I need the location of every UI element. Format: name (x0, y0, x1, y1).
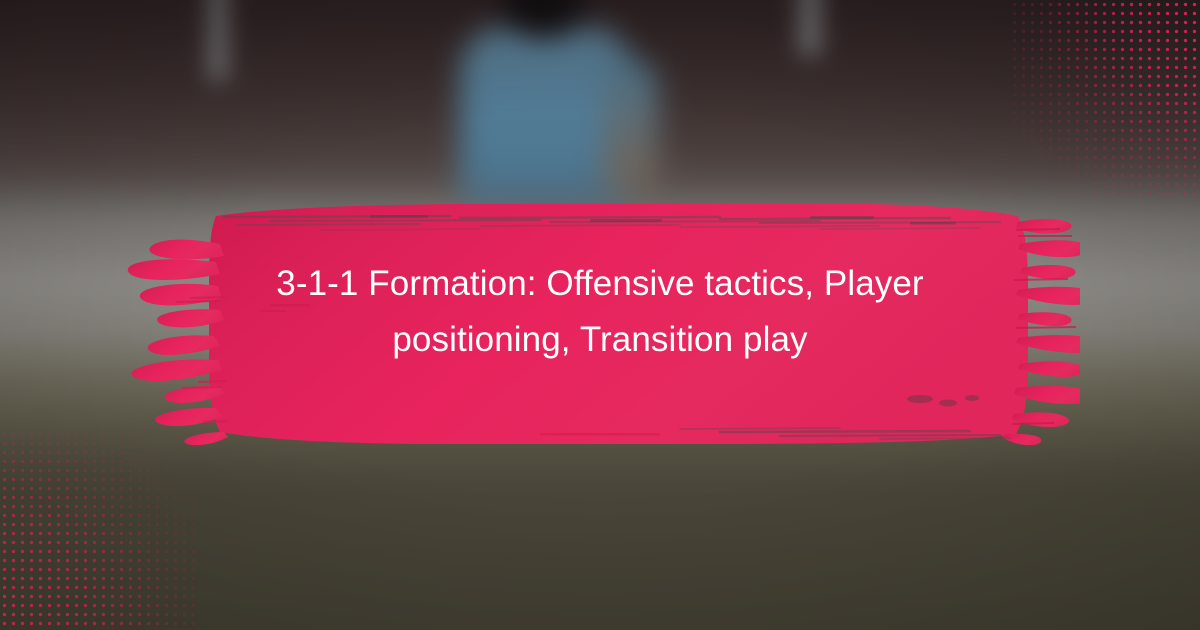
card-title: 3-1-1 Formation: Offensive tactics, Play… (218, 256, 982, 368)
halftone-dots-icon-top-right (1010, 0, 1200, 200)
share-card: 3-1-1 Formation: Offensive tactics, Play… (0, 0, 1200, 630)
halftone-dots-icon-bottom-left (0, 430, 195, 630)
card-title-text: 3-1-1 Formation: Offensive tactics, Play… (276, 264, 923, 359)
